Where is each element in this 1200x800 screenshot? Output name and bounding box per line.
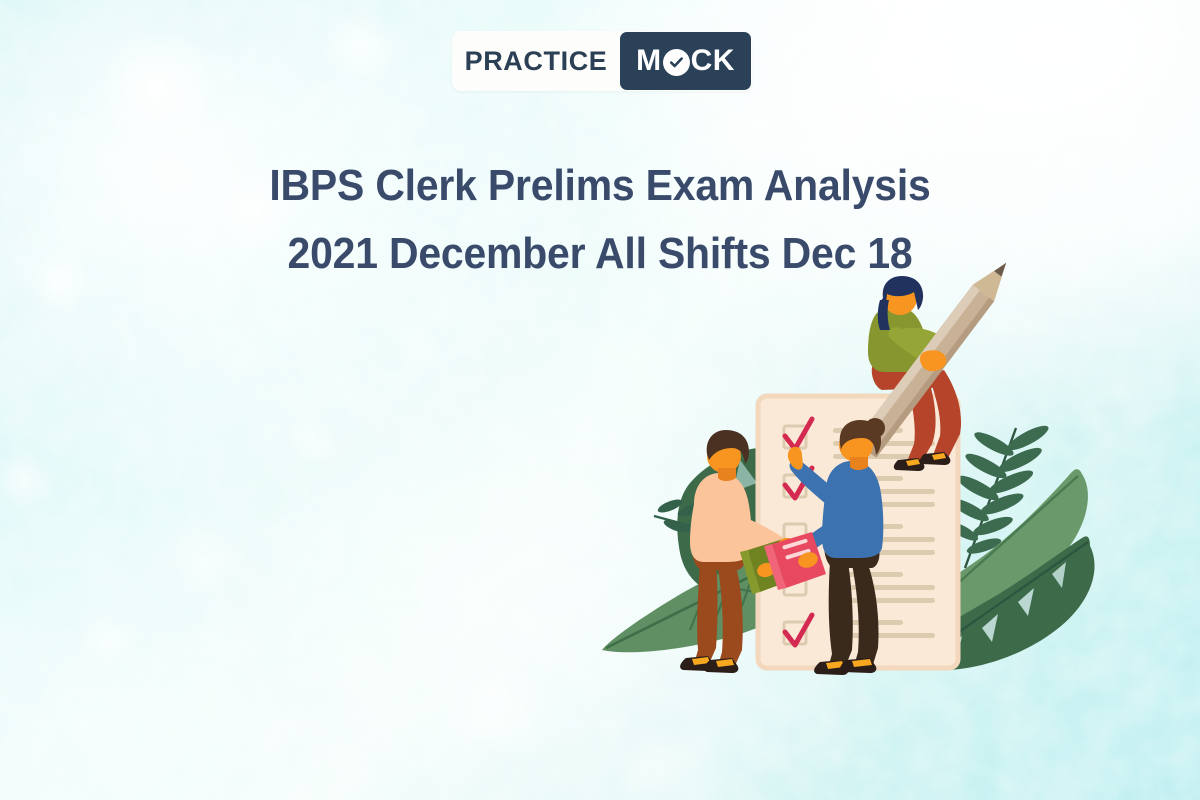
check-circle-icon [663, 49, 690, 76]
logo-practice-text: PRACTICE [465, 46, 608, 77]
logo-mock-prefix: M [636, 44, 662, 78]
logo-mock-block: M CK [620, 32, 751, 90]
page-title-line-1: IBPS Clerk Prelims Exam Analysis [42, 152, 1158, 220]
practicemock-logo[interactable]: PRACTICE M CK [452, 31, 752, 91]
checklist-team-illustration [590, 278, 1130, 688]
logo-mock-suffix: CK [691, 44, 735, 78]
poster-canvas: PRACTICE M CK IBPS Clerk Prelims Exam An… [0, 0, 1200, 800]
logo-practice-block: PRACTICE [452, 31, 620, 91]
page-title: IBPS Clerk Prelims Exam Analysis 2021 De… [42, 152, 1158, 288]
logo-mock-text: M CK [636, 44, 735, 78]
